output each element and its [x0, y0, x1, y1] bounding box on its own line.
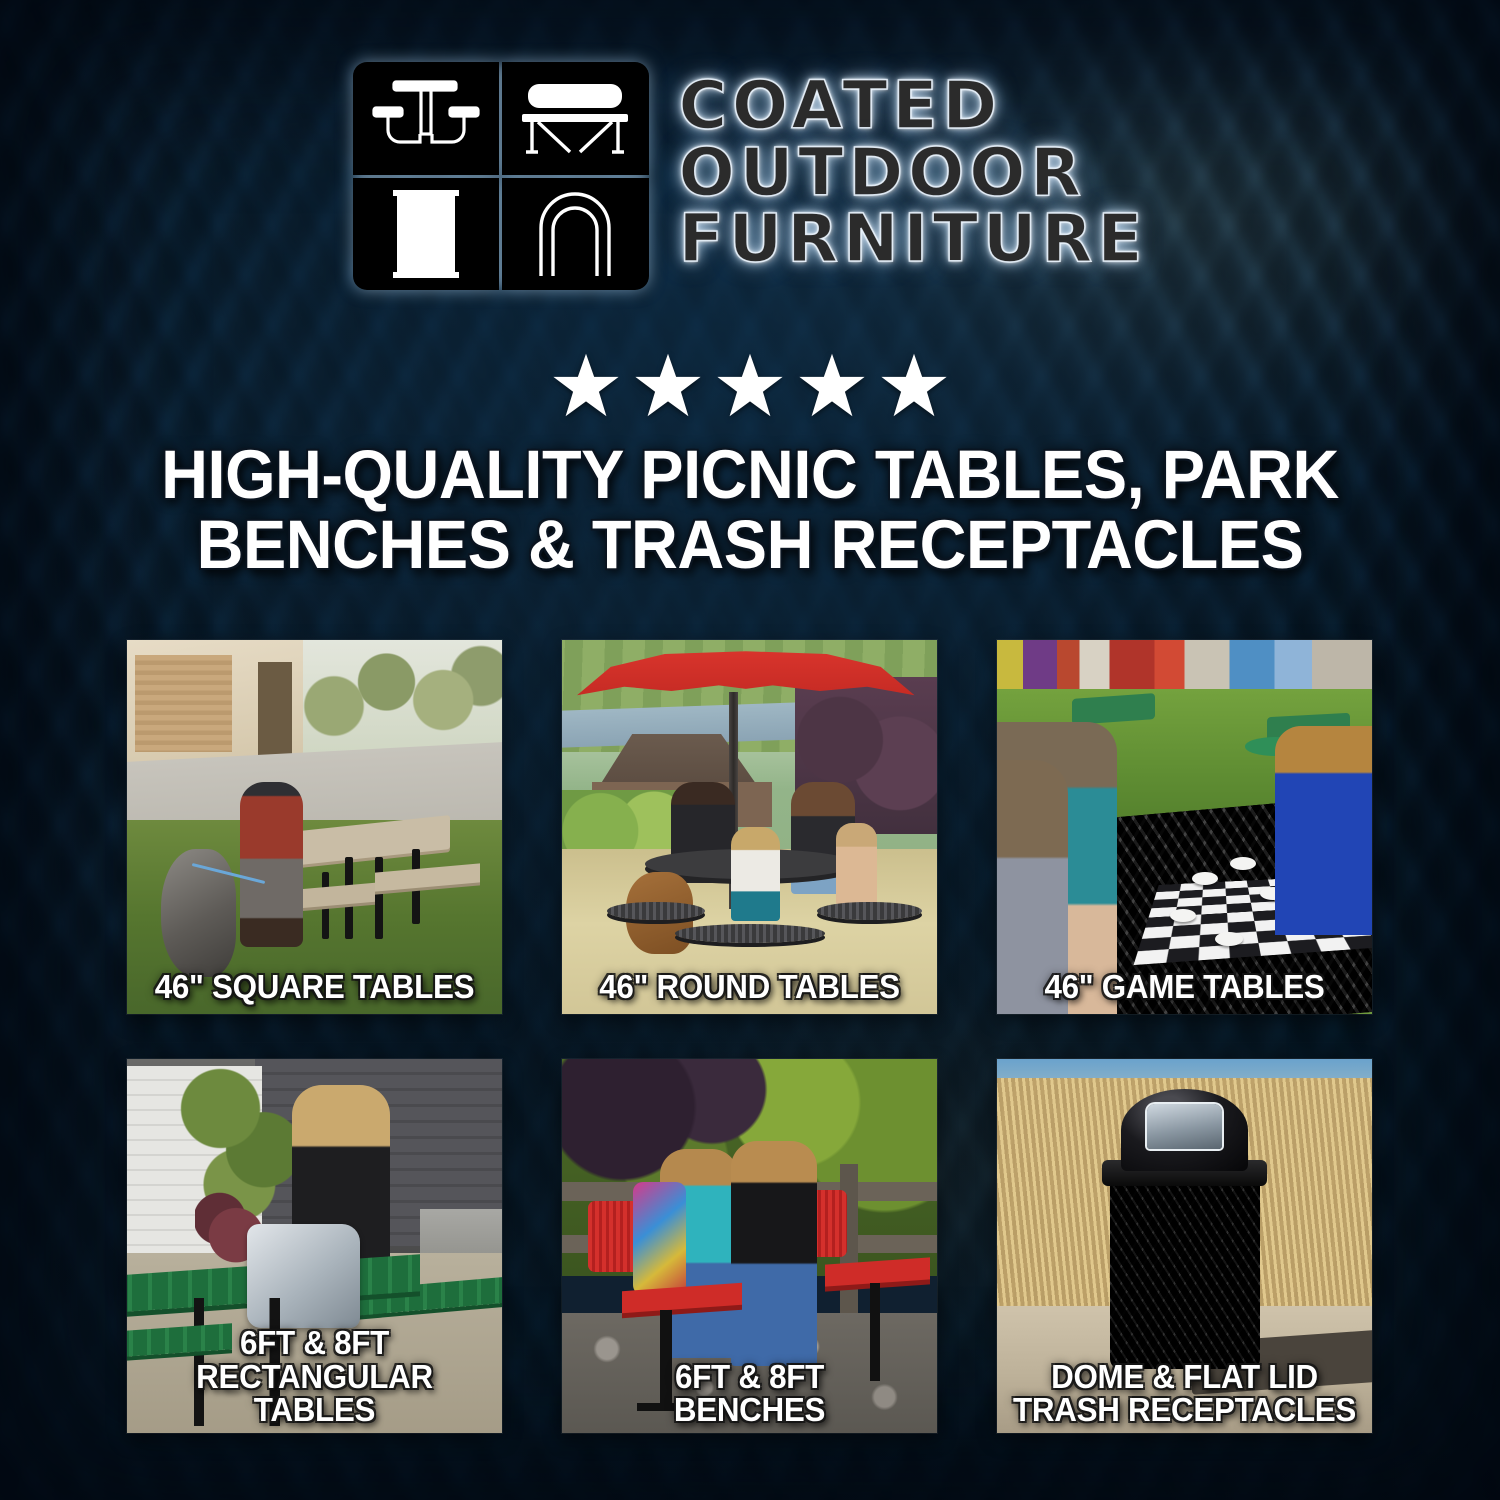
caption-line-2: TRASH RECEPTACLES — [1012, 1393, 1357, 1427]
product-tile-benches[interactable]: 6FT & 8FT BENCHES — [562, 1059, 937, 1433]
product-caption: 6FT & 8FT BENCHES — [571, 1360, 927, 1427]
product-grid: 46" SQUARE TABLES — [127, 640, 1375, 1433]
brand-header: COATED OUTDOOR FURNITURE — [0, 62, 1500, 290]
brand-line-3: FURNITURE — [679, 209, 1148, 270]
product-caption: 6FT & 8FT RECTANGULAR TABLES — [136, 1326, 492, 1427]
headline: HIGH-QUALITY PICNIC TABLES, PARK BENCHES… — [0, 440, 1500, 581]
star-icon — [716, 352, 784, 418]
logo-lockup: COATED OUTDOOR FURNITURE — [353, 62, 1148, 290]
headline-line-1: HIGH-QUALITY PICNIC TABLES, PARK — [101, 440, 1398, 510]
rating-stars — [0, 352, 1500, 418]
trash-receptacle-icon — [353, 178, 500, 291]
product-photo-game-tables — [997, 640, 1372, 1014]
product-caption: DOME & FLAT LID TRASH RECEPTACLES — [1006, 1360, 1362, 1427]
bike-rack-arch-icon — [502, 178, 649, 291]
brand-line-1: COATED — [679, 76, 1148, 137]
caption-line-1: 46" SQUARE TABLES — [142, 970, 487, 1004]
product-caption: 46" SQUARE TABLES — [136, 970, 492, 1004]
caption-line-1: DOME & FLAT LID — [1012, 1360, 1357, 1394]
caption-line-1: 6FT & 8FT — [577, 1360, 922, 1394]
star-icon — [798, 352, 866, 418]
logo-icon-grid — [353, 62, 649, 290]
star-icon — [552, 352, 620, 418]
product-tile-game-tables[interactable]: 46" GAME TABLES — [997, 640, 1372, 1014]
star-icon — [880, 352, 948, 418]
caption-line-2: RECTANGULAR TABLES — [142, 1360, 487, 1427]
product-caption: 46" GAME TABLES — [1006, 970, 1362, 1004]
promo-banner: COATED OUTDOOR FURNITURE HIGH-QUALITY PI… — [0, 0, 1500, 1500]
caption-line-1: 6FT & 8FT — [142, 1326, 487, 1360]
caption-line-1: 46" GAME TABLES — [1012, 970, 1357, 1004]
product-tile-rectangular-tables[interactable]: 6FT & 8FT RECTANGULAR TABLES — [127, 1059, 502, 1433]
brand-line-2: OUTDOOR — [679, 143, 1148, 204]
brand-name: COATED OUTDOOR FURNITURE — [679, 76, 1148, 276]
product-tile-square-tables[interactable]: 46" SQUARE TABLES — [127, 640, 502, 1014]
product-photo-round-tables — [562, 640, 937, 1014]
caption-line-2: BENCHES — [577, 1393, 922, 1427]
product-photo-square-tables — [127, 640, 502, 1014]
caption-line-1: 46" ROUND TABLES — [577, 970, 922, 1004]
picnic-table-icon — [353, 62, 500, 175]
product-caption: 46" ROUND TABLES — [571, 970, 927, 1004]
product-tile-trash-receptacles[interactable]: DOME & FLAT LID TRASH RECEPTACLES — [997, 1059, 1372, 1433]
headline-line-2: BENCHES & TRASH RECEPTACLES — [101, 510, 1398, 580]
bench-icon — [502, 62, 649, 175]
product-tile-round-tables[interactable]: 46" ROUND TABLES — [562, 640, 937, 1014]
star-icon — [634, 352, 702, 418]
